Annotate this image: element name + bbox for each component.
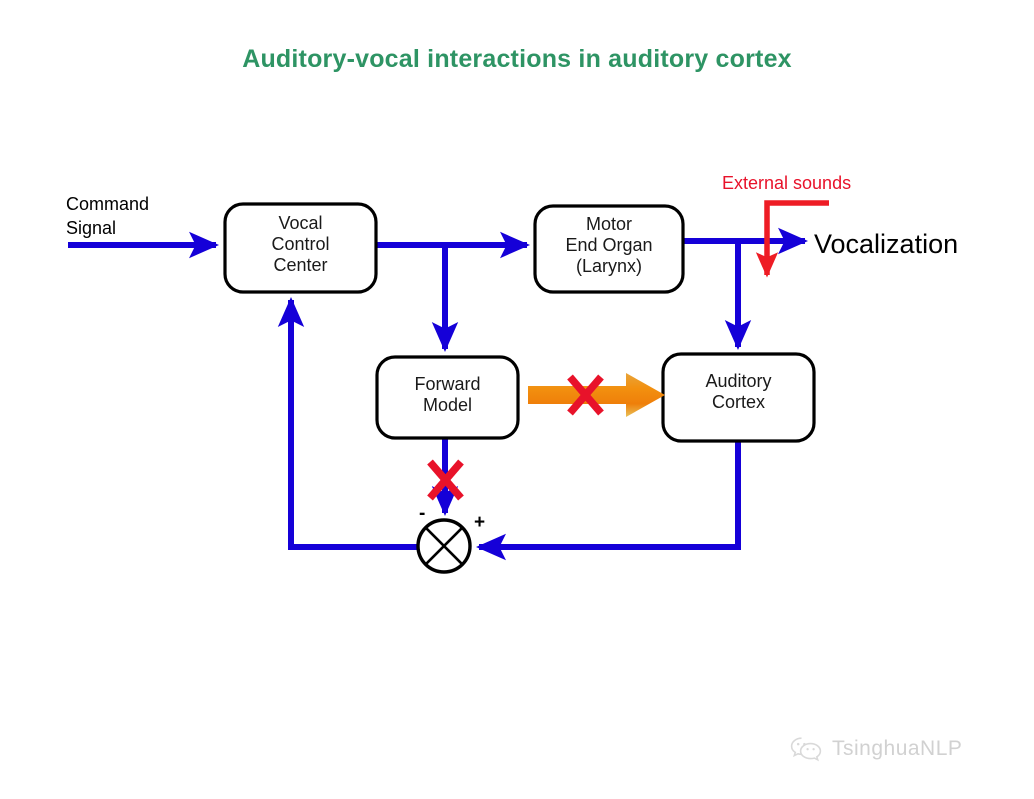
summing-junction (418, 520, 470, 572)
edge-auditory-to-sum (479, 441, 738, 547)
node-label-vocal-control-center: Vocal Control Center (225, 213, 376, 277)
node-label-auditory-cortex: Auditory Cortex (663, 371, 814, 413)
node-label-forward-model: Forward Model (377, 374, 518, 416)
watermark-text: TsinghuaNLP (832, 737, 962, 761)
wechat-speech-bubbles-icon (790, 735, 824, 763)
diagram-canvas: Auditory-vocal interactions in auditory … (0, 0, 1034, 799)
node-label-motor-end-organ: Motor End Organ (Larynx) (535, 214, 683, 278)
summing-junction-plus-sign: + (474, 512, 485, 534)
command-signal-label: Command Signal (66, 192, 149, 241)
external-sounds-label: External sounds (722, 173, 851, 194)
vocalization-label: Vocalization (814, 229, 958, 261)
watermark: TsinghuaNLP (790, 735, 962, 763)
summing-junction-minus-sign: - (419, 503, 425, 525)
